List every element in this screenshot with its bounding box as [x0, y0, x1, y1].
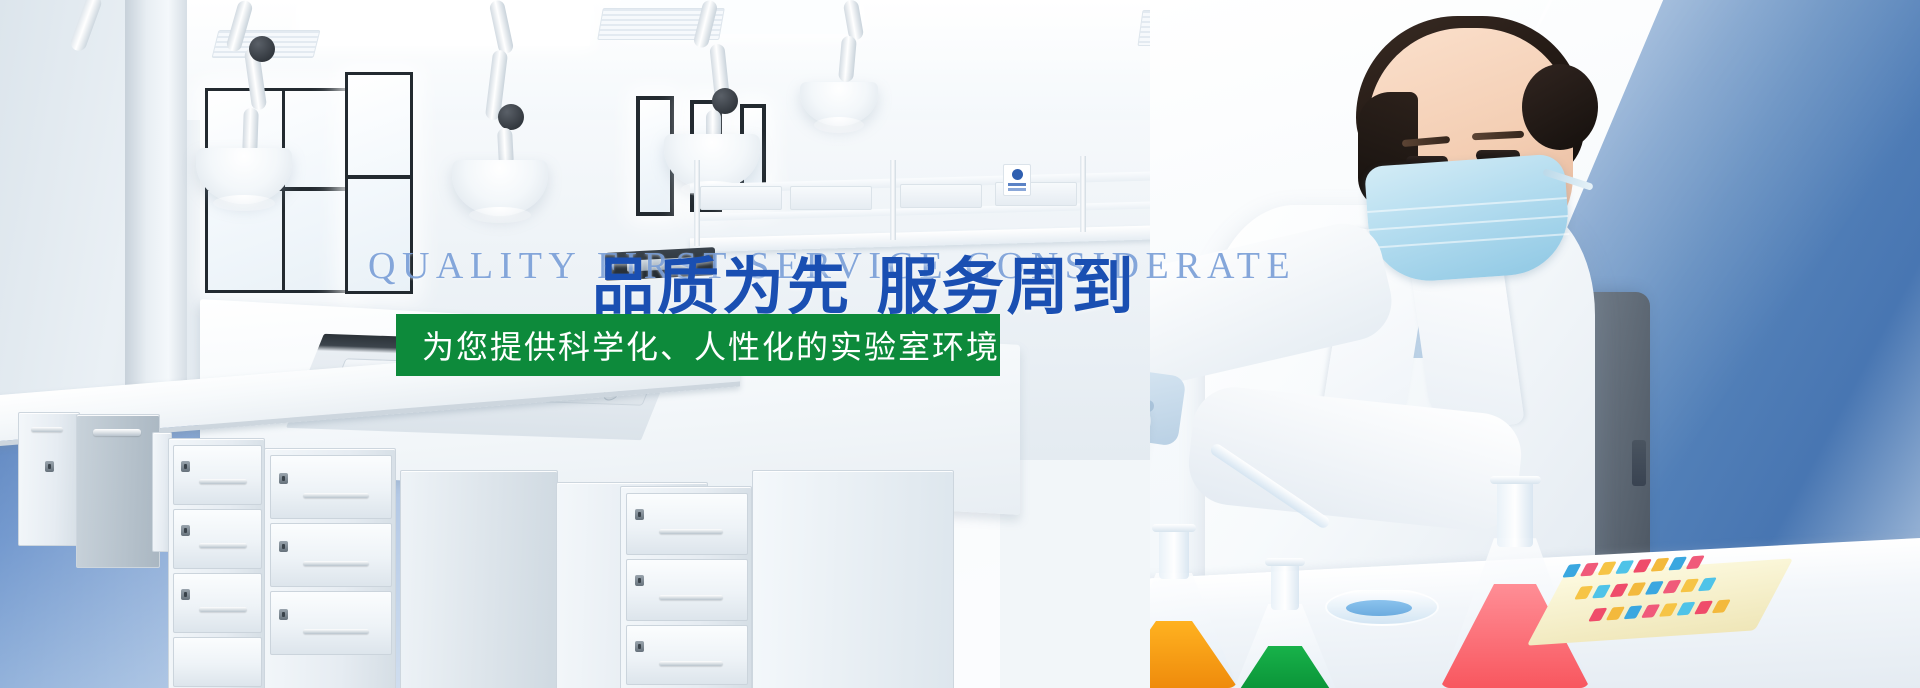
hero-banner: QUALITY FIRST SERVICE CONSIDERATE 品质为先 服… — [0, 0, 1920, 688]
subtitle-text: 为您提供科学化、人性化的实验室环境 — [396, 322, 1000, 368]
subtitle-banner: 为您提供科学化、人性化的实验室环境 — [396, 314, 1000, 376]
banner-text-overlay: QUALITY FIRST SERVICE CONSIDERATE 品质为先 服… — [0, 0, 1920, 688]
banner-headline: 品质为先 服务周到 — [592, 252, 1137, 321]
